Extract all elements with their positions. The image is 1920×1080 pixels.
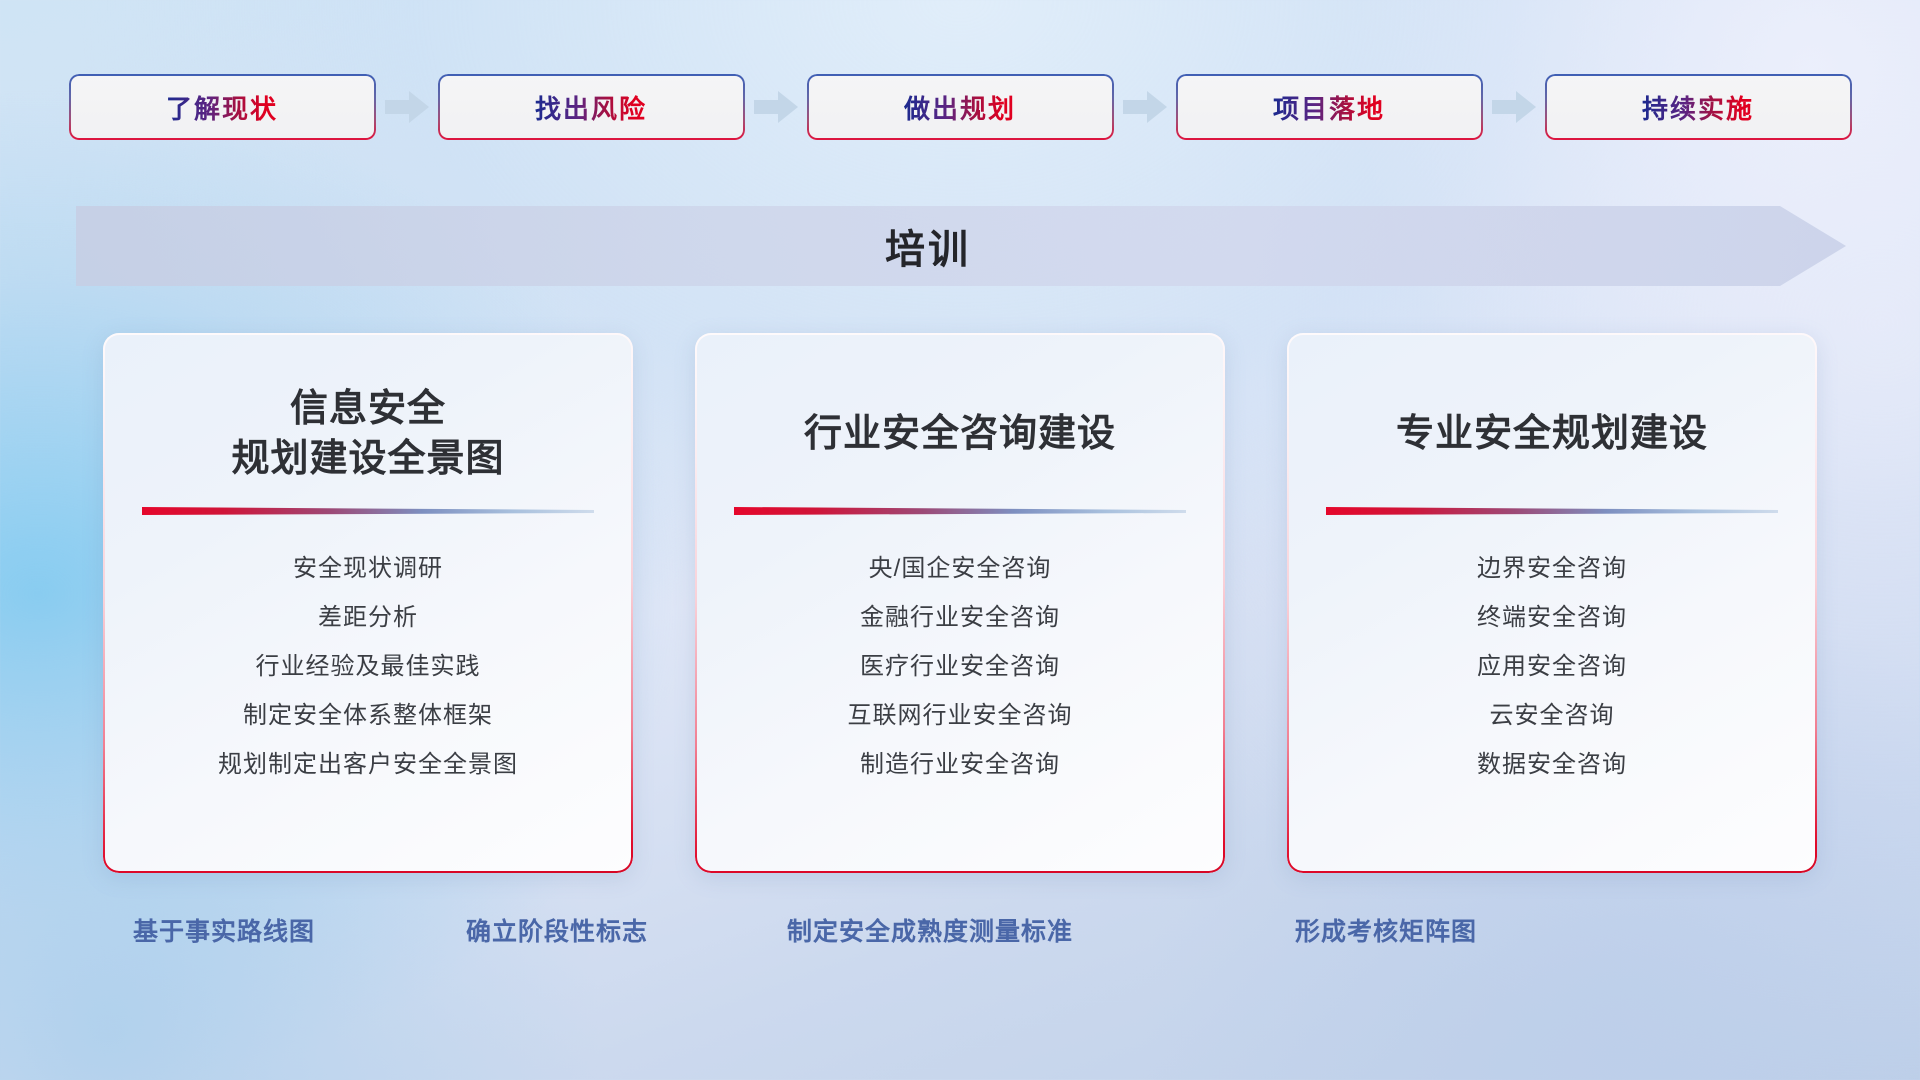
card-title-line: 规划建设全景图 xyxy=(231,434,504,484)
card-divider-icon xyxy=(1326,505,1778,516)
card-title: 行业安全咨询建设 xyxy=(804,379,1116,489)
card-item-list: 边界安全咨询 终端安全咨询 应用安全咨询 云安全咨询 数据安全咨询 xyxy=(1477,544,1627,789)
card-industry-security-consulting[interactable]: 行业安全咨询建设 央/国企安全咨询 金融行业安全咨询 xyxy=(695,333,1225,873)
training-banner: 培训 xyxy=(76,206,1846,286)
card-title-line: 信息安全 xyxy=(231,384,504,434)
card-title: 信息安全 规划建设全景图 xyxy=(231,379,504,489)
card-title-line: 行业安全咨询建设 xyxy=(804,409,1116,459)
step-label-3: 做出规划 xyxy=(904,89,1016,126)
list-item: 医疗行业安全咨询 xyxy=(848,642,1073,691)
card-divider-icon xyxy=(734,505,1186,516)
right-arrow-icon xyxy=(385,91,429,123)
list-item: 应用安全咨询 xyxy=(1477,642,1627,691)
footer-label-maturity: 制定安全成熟度测量标准 xyxy=(787,912,1073,948)
card-divider-icon xyxy=(142,505,594,516)
process-step-row: 了解现状 找出风险 做出规划 项目落地 持续实施 xyxy=(0,74,1920,140)
step-box-3[interactable]: 做出规划 xyxy=(807,74,1114,140)
step-box-4[interactable]: 项目落地 xyxy=(1176,74,1483,140)
step-label-1: 了解现状 xyxy=(166,89,278,126)
right-arrow-icon xyxy=(754,91,798,123)
card-info-security-blueprint[interactable]: 信息安全 规划建设全景图 安全现状调研 差 xyxy=(103,333,633,873)
list-item: 制定安全体系整体框架 xyxy=(218,691,518,740)
list-item: 规划制定出客户安全全景图 xyxy=(218,740,518,789)
right-arrow-icon xyxy=(1492,91,1536,123)
banner-title: 培训 xyxy=(76,206,1846,286)
list-item: 差距分析 xyxy=(218,593,518,642)
step-label-2: 找出风险 xyxy=(535,89,647,126)
list-item: 央/国企安全咨询 xyxy=(848,544,1073,593)
list-item: 互联网行业安全咨询 xyxy=(848,691,1073,740)
step-label-5: 持续实施 xyxy=(1642,89,1754,126)
list-item: 制造行业安全咨询 xyxy=(848,740,1073,789)
footer-label-milestone: 确立阶段性标志 xyxy=(466,912,648,948)
footer-label-row: 基于事实路线图 确立阶段性标志 制定安全成熟度测量标准 形成考核矩阵图 xyxy=(0,912,1920,960)
right-arrow-icon xyxy=(1123,91,1167,123)
step-label-4: 项目落地 xyxy=(1273,89,1385,126)
footer-label-roadmap: 基于事实路线图 xyxy=(133,912,315,948)
step-box-5[interactable]: 持续实施 xyxy=(1545,74,1852,140)
card-title: 专业安全规划建设 xyxy=(1396,379,1708,489)
list-item: 安全现状调研 xyxy=(218,544,518,593)
list-item: 金融行业安全咨询 xyxy=(848,593,1073,642)
list-item: 行业经验及最佳实践 xyxy=(218,642,518,691)
list-item: 边界安全咨询 xyxy=(1477,544,1627,593)
step-box-2[interactable]: 找出风险 xyxy=(438,74,745,140)
step-box-1[interactable]: 了解现状 xyxy=(69,74,376,140)
list-item: 数据安全咨询 xyxy=(1477,740,1627,789)
list-item: 云安全咨询 xyxy=(1477,691,1627,740)
card-item-list: 安全现状调研 差距分析 行业经验及最佳实践 制定安全体系整体框架 规划制定出客户… xyxy=(218,544,518,789)
footer-label-matrix: 形成考核矩阵图 xyxy=(1295,912,1477,948)
card-row: 信息安全 规划建设全景图 安全现状调研 差 xyxy=(0,333,1920,873)
card-professional-security-planning[interactable]: 专业安全规划建设 边界安全咨询 终端安全咨询 xyxy=(1287,333,1817,873)
list-item: 终端安全咨询 xyxy=(1477,593,1627,642)
card-item-list: 央/国企安全咨询 金融行业安全咨询 医疗行业安全咨询 互联网行业安全咨询 制造行… xyxy=(848,544,1073,789)
card-title-line: 专业安全规划建设 xyxy=(1396,409,1708,459)
